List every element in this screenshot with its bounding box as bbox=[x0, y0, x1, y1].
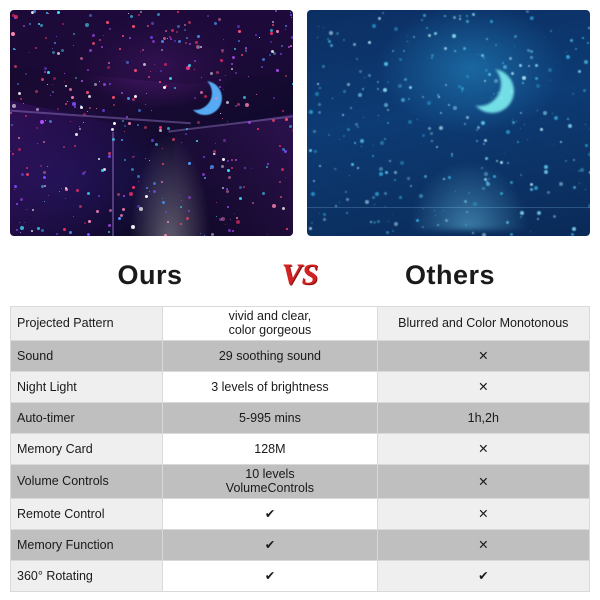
star-dot bbox=[318, 103, 321, 106]
star-dot bbox=[582, 37, 584, 39]
star-dot bbox=[94, 83, 97, 86]
star-dot bbox=[10, 112, 12, 114]
star-dot bbox=[169, 77, 172, 80]
star-dot bbox=[128, 13, 129, 14]
star-dot bbox=[138, 181, 139, 182]
star-dot bbox=[472, 13, 475, 16]
star-dot bbox=[285, 25, 287, 27]
star-dot bbox=[488, 158, 489, 159]
star-dot bbox=[384, 62, 388, 66]
star-dot bbox=[483, 57, 485, 59]
star-dot bbox=[235, 105, 237, 107]
star-dot bbox=[88, 220, 91, 223]
star-dot bbox=[108, 62, 110, 64]
star-dot bbox=[12, 153, 14, 155]
feature-cell: Volume Controls bbox=[11, 464, 163, 498]
star-dot bbox=[437, 224, 439, 226]
star-dot bbox=[26, 173, 29, 176]
star-dot bbox=[109, 28, 111, 30]
star-dot bbox=[225, 75, 226, 76]
star-dot bbox=[99, 39, 101, 41]
star-dot bbox=[285, 118, 288, 121]
star-dot bbox=[464, 123, 466, 125]
star-dot bbox=[14, 65, 17, 68]
star-dot bbox=[86, 91, 89, 94]
ours-value-cell: vivid and clear,color gorgeous bbox=[163, 307, 377, 341]
star-dot bbox=[162, 198, 163, 199]
star-dot bbox=[377, 220, 380, 223]
star-dot bbox=[125, 60, 126, 61]
star-dot bbox=[227, 206, 229, 208]
star-dot bbox=[343, 90, 346, 93]
star-dot bbox=[52, 51, 55, 54]
star-dot bbox=[466, 15, 468, 17]
star-dot bbox=[223, 39, 224, 40]
star-dot bbox=[245, 50, 247, 52]
star-dot bbox=[234, 48, 236, 50]
star-dot bbox=[186, 68, 188, 70]
star-dot bbox=[98, 195, 100, 197]
feature-cell: Night Light bbox=[11, 371, 163, 402]
star-dot bbox=[535, 77, 538, 80]
star-dot bbox=[243, 186, 245, 188]
star-dot bbox=[236, 217, 238, 219]
star-dot bbox=[88, 95, 91, 98]
star-dot bbox=[585, 144, 588, 147]
star-dot bbox=[373, 221, 376, 224]
star-dot bbox=[514, 35, 517, 38]
others-cross-icon: ✕ bbox=[377, 498, 589, 529]
star-dot bbox=[486, 38, 488, 40]
star-dot bbox=[137, 175, 140, 178]
star-dot bbox=[317, 83, 319, 85]
star-dot bbox=[379, 167, 383, 171]
others-projection-photo bbox=[307, 10, 590, 236]
star-dot bbox=[210, 72, 213, 75]
star-dot bbox=[221, 217, 225, 221]
star-dot bbox=[87, 69, 89, 71]
star-dot bbox=[223, 139, 226, 142]
star-dot bbox=[587, 42, 589, 44]
star-dot bbox=[547, 191, 550, 194]
star-dot bbox=[559, 182, 563, 186]
star-dot bbox=[138, 109, 141, 112]
star-dot bbox=[509, 57, 512, 60]
star-dot bbox=[261, 66, 263, 68]
star-dot bbox=[43, 171, 46, 174]
star-dot bbox=[530, 50, 533, 53]
star-dot bbox=[572, 227, 576, 231]
star-dot bbox=[427, 101, 431, 105]
star-dot bbox=[213, 153, 215, 155]
star-dot bbox=[80, 106, 83, 109]
star-dot bbox=[520, 128, 521, 129]
star-dot bbox=[481, 167, 483, 169]
ours-title: Ours bbox=[0, 260, 300, 291]
star-dot bbox=[231, 68, 233, 70]
star-dot bbox=[364, 77, 365, 78]
feature-cell: Remote Control bbox=[11, 498, 163, 529]
star-dot bbox=[53, 77, 56, 80]
star-dot bbox=[482, 187, 485, 190]
star-dot bbox=[24, 222, 25, 223]
star-dot bbox=[537, 211, 541, 215]
star-dot bbox=[161, 40, 164, 43]
star-dot bbox=[553, 144, 554, 145]
star-dot bbox=[554, 116, 558, 120]
star-dot bbox=[237, 103, 240, 106]
star-dot bbox=[194, 97, 196, 99]
star-dot bbox=[108, 231, 110, 233]
star-dot bbox=[530, 16, 534, 20]
star-dot bbox=[568, 124, 572, 128]
feature-cell: Memory Function bbox=[11, 529, 163, 560]
star-dot bbox=[64, 81, 65, 82]
star-dot bbox=[64, 73, 65, 74]
star-dot bbox=[152, 40, 155, 43]
comparison-infographic: Ours Others VS Projected Patternvivid an… bbox=[0, 0, 600, 600]
star-dot bbox=[132, 156, 134, 158]
star-dot bbox=[313, 180, 315, 182]
star-dot bbox=[121, 92, 123, 94]
star-dot bbox=[197, 121, 200, 124]
star-dot bbox=[161, 49, 163, 51]
star-dot bbox=[534, 186, 538, 190]
star-dot bbox=[343, 135, 345, 137]
star-dot bbox=[49, 120, 52, 123]
star-dot bbox=[505, 83, 506, 84]
photo-row bbox=[0, 0, 600, 236]
star-dot bbox=[394, 222, 398, 226]
star-dot bbox=[323, 218, 326, 221]
star-dot bbox=[35, 90, 38, 93]
star-dot bbox=[409, 86, 412, 89]
star-dot bbox=[430, 132, 433, 135]
star-dot bbox=[20, 232, 21, 233]
star-dot bbox=[204, 95, 207, 98]
star-dot bbox=[111, 128, 114, 131]
star-dot bbox=[332, 98, 333, 99]
star-dot bbox=[573, 186, 576, 189]
star-dot bbox=[41, 229, 44, 232]
star-dot bbox=[394, 179, 396, 181]
star-dot bbox=[535, 64, 538, 67]
star-dot bbox=[148, 76, 150, 78]
table-row: Auto-timer5-995 mins1h,2h bbox=[11, 402, 590, 433]
star-dot bbox=[346, 198, 349, 201]
star-dot bbox=[527, 49, 530, 52]
star-dot bbox=[273, 97, 275, 99]
star-dot bbox=[281, 168, 284, 171]
star-dot bbox=[272, 119, 275, 122]
star-dot bbox=[188, 210, 190, 212]
star-dot bbox=[153, 190, 156, 193]
star-dot bbox=[20, 198, 23, 201]
star-dot bbox=[103, 35, 104, 36]
star-dot bbox=[25, 73, 27, 75]
star-dot bbox=[335, 205, 337, 207]
star-dot bbox=[448, 176, 451, 179]
star-dot bbox=[454, 50, 456, 52]
star-dot bbox=[387, 122, 389, 124]
star-dot bbox=[431, 54, 434, 57]
star-dot bbox=[567, 118, 569, 120]
star-dot bbox=[483, 143, 485, 145]
star-dot bbox=[79, 128, 81, 130]
star-dot bbox=[519, 64, 522, 67]
star-dot bbox=[151, 139, 154, 142]
star-dot bbox=[385, 206, 386, 207]
star-dot bbox=[89, 107, 91, 109]
star-dot bbox=[41, 78, 44, 81]
star-dot bbox=[44, 67, 47, 70]
star-dot bbox=[214, 22, 217, 25]
star-dot bbox=[219, 86, 221, 88]
star-dot bbox=[285, 177, 286, 178]
star-dot bbox=[440, 112, 442, 114]
star-dot bbox=[472, 232, 474, 234]
star-dot bbox=[124, 131, 125, 132]
star-dot bbox=[377, 81, 379, 83]
star-dot bbox=[52, 48, 53, 49]
star-dot bbox=[506, 130, 510, 134]
star-dot bbox=[370, 221, 372, 223]
star-dot bbox=[103, 83, 106, 86]
star-dot bbox=[374, 204, 375, 205]
star-dot bbox=[336, 32, 339, 35]
star-dot bbox=[520, 112, 522, 114]
star-dot bbox=[123, 195, 125, 197]
ours-value-cell: 29 soothing sound bbox=[163, 340, 377, 371]
star-dot bbox=[167, 221, 169, 223]
star-dot bbox=[453, 16, 456, 19]
star-dot bbox=[219, 79, 221, 81]
star-dot bbox=[585, 124, 586, 125]
star-dot bbox=[48, 13, 49, 14]
star-dot bbox=[159, 126, 162, 129]
star-dot bbox=[496, 160, 498, 162]
star-dot bbox=[143, 63, 146, 66]
star-dot bbox=[343, 39, 345, 41]
star-field bbox=[307, 10, 590, 236]
feature-cell: Auto-timer bbox=[11, 402, 163, 433]
star-dot bbox=[537, 218, 539, 220]
star-dot bbox=[380, 141, 384, 145]
table-row: Memory Function✔✕ bbox=[11, 529, 590, 560]
star-dot bbox=[437, 94, 439, 96]
star-dot bbox=[358, 93, 362, 97]
star-dot bbox=[565, 160, 567, 162]
star-dot bbox=[502, 62, 504, 64]
star-dot bbox=[255, 34, 257, 36]
star-dot bbox=[179, 195, 180, 196]
star-dot bbox=[241, 54, 243, 56]
star-dot bbox=[401, 98, 405, 102]
star-dot bbox=[50, 95, 51, 96]
star-dot bbox=[75, 77, 77, 79]
star-dot bbox=[550, 30, 552, 32]
star-dot bbox=[29, 52, 30, 53]
star-dot bbox=[421, 19, 423, 21]
star-dot bbox=[14, 185, 17, 188]
star-dot bbox=[150, 36, 153, 39]
star-dot bbox=[132, 186, 135, 189]
star-dot bbox=[25, 115, 27, 117]
star-dot bbox=[572, 93, 574, 95]
star-dot bbox=[239, 197, 242, 200]
star-dot bbox=[262, 58, 265, 61]
star-dot bbox=[140, 11, 142, 13]
star-dot bbox=[186, 128, 188, 130]
star-dot bbox=[583, 89, 586, 92]
star-dot bbox=[530, 231, 531, 232]
star-dot bbox=[288, 46, 290, 48]
star-dot bbox=[439, 126, 443, 130]
star-dot bbox=[394, 171, 397, 174]
star-dot bbox=[575, 48, 577, 50]
star-dot bbox=[63, 146, 65, 148]
star-dot bbox=[334, 168, 336, 170]
others-title: Others bbox=[300, 260, 600, 291]
star-dot bbox=[407, 41, 408, 42]
star-dot bbox=[234, 213, 235, 214]
star-dot bbox=[69, 88, 72, 91]
star-dot bbox=[200, 46, 202, 48]
star-dot bbox=[468, 192, 470, 194]
star-dot bbox=[222, 118, 223, 119]
star-dot bbox=[37, 227, 40, 230]
table-row: Sound29 soothing sound✕ bbox=[11, 340, 590, 371]
star-dot bbox=[404, 78, 407, 81]
star-dot bbox=[319, 87, 321, 89]
star-dot bbox=[282, 110, 284, 112]
star-dot bbox=[286, 228, 288, 230]
star-dot bbox=[45, 37, 47, 39]
star-dot bbox=[510, 90, 513, 93]
star-dot bbox=[434, 32, 437, 35]
star-dot bbox=[43, 176, 46, 179]
star-dot bbox=[195, 41, 198, 44]
star-dot bbox=[230, 219, 231, 220]
star-dot bbox=[167, 38, 168, 39]
star-dot bbox=[464, 200, 467, 203]
star-dot bbox=[83, 122, 84, 123]
star-dot bbox=[280, 53, 282, 55]
star-dot bbox=[87, 233, 90, 236]
ours-value-line: vivid and clear, bbox=[169, 309, 370, 323]
star-dot bbox=[147, 25, 149, 27]
star-dot bbox=[354, 142, 356, 144]
star-dot bbox=[476, 140, 478, 142]
star-dot bbox=[129, 37, 131, 39]
star-dot bbox=[463, 47, 466, 50]
star-dot bbox=[291, 36, 293, 39]
star-dot bbox=[373, 145, 374, 146]
star-dot bbox=[510, 181, 513, 184]
star-dot bbox=[466, 116, 469, 119]
star-dot bbox=[186, 37, 188, 39]
star-dot bbox=[124, 159, 126, 161]
star-dot bbox=[178, 40, 181, 43]
star-dot bbox=[19, 222, 20, 223]
star-dot bbox=[455, 191, 456, 192]
star-dot bbox=[167, 127, 170, 130]
star-dot bbox=[54, 42, 56, 44]
star-dot bbox=[345, 191, 347, 193]
vs-badge: VS bbox=[282, 258, 319, 292]
star-dot bbox=[44, 71, 46, 73]
star-field bbox=[10, 10, 293, 236]
star-dot bbox=[318, 26, 319, 27]
star-dot bbox=[131, 168, 134, 171]
star-dot bbox=[151, 110, 152, 111]
star-dot bbox=[500, 192, 503, 195]
star-dot bbox=[423, 208, 424, 209]
star-dot bbox=[161, 181, 163, 183]
star-dot bbox=[142, 49, 144, 51]
star-dot bbox=[222, 187, 224, 189]
star-dot bbox=[311, 192, 315, 196]
others-cross-icon: ✕ bbox=[377, 464, 589, 498]
star-dot bbox=[270, 41, 272, 43]
star-dot bbox=[92, 42, 95, 45]
star-dot bbox=[31, 230, 33, 232]
star-dot bbox=[403, 50, 405, 52]
star-dot bbox=[210, 165, 214, 169]
others-cross-icon: ✕ bbox=[377, 529, 589, 560]
star-dot bbox=[452, 34, 456, 38]
feature-cell: Sound bbox=[11, 340, 163, 371]
star-dot bbox=[422, 226, 424, 228]
star-dot bbox=[32, 209, 34, 211]
star-dot bbox=[170, 38, 172, 40]
star-dot bbox=[79, 205, 82, 208]
star-dot bbox=[461, 90, 463, 92]
star-dot bbox=[465, 224, 467, 226]
star-dot bbox=[235, 72, 237, 74]
star-dot bbox=[503, 65, 507, 69]
star-dot bbox=[120, 214, 123, 217]
star-dot bbox=[365, 200, 369, 204]
star-dot bbox=[109, 83, 111, 85]
feature-cell: Memory Card bbox=[11, 433, 163, 464]
star-dot bbox=[281, 45, 283, 47]
star-dot bbox=[394, 27, 398, 31]
star-dot bbox=[180, 223, 182, 225]
star-dot bbox=[92, 34, 95, 37]
star-dot bbox=[272, 24, 274, 26]
star-dot bbox=[400, 161, 404, 165]
star-dot bbox=[522, 76, 526, 80]
star-dot bbox=[466, 20, 469, 23]
star-dot bbox=[207, 15, 209, 17]
star-dot bbox=[329, 31, 333, 35]
star-dot bbox=[292, 83, 293, 85]
star-dot bbox=[378, 115, 379, 116]
feature-cell: 360° Rotating bbox=[11, 560, 163, 591]
star-dot bbox=[227, 160, 229, 162]
star-dot bbox=[194, 69, 195, 70]
star-dot bbox=[14, 189, 15, 190]
star-dot bbox=[48, 195, 49, 196]
star-dot bbox=[466, 211, 468, 213]
star-dot bbox=[231, 159, 233, 161]
star-dot bbox=[188, 21, 191, 24]
star-dot bbox=[342, 114, 344, 116]
star-dot bbox=[74, 145, 76, 147]
star-dot bbox=[232, 230, 234, 232]
star-dot bbox=[52, 91, 54, 93]
